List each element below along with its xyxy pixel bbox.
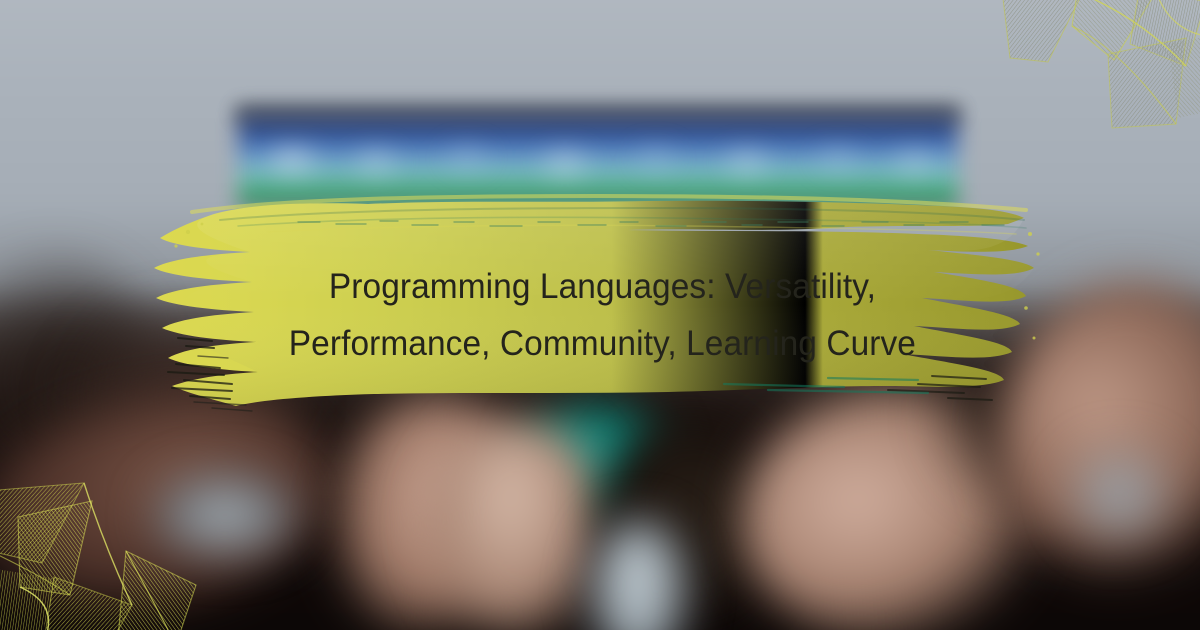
foreground-blur-hand-mid	[430, 420, 610, 630]
title-text-block: Programming Languages: Versatility, Perf…	[232, 240, 972, 390]
page-title-line-1: Programming Languages: Versatility,	[328, 258, 875, 315]
page-title-line-2: Performance, Community, Learning Curve	[288, 315, 915, 372]
title-banner: Programming Languages: Versatility, Perf…	[128, 188, 1052, 433]
foreground-blur-screen-right	[1060, 440, 1180, 550]
monitor-screen-content	[250, 132, 950, 190]
foreground-blur-paper	[150, 470, 300, 560]
social-share-card: Programming Languages: Versatility, Perf…	[0, 0, 1200, 630]
